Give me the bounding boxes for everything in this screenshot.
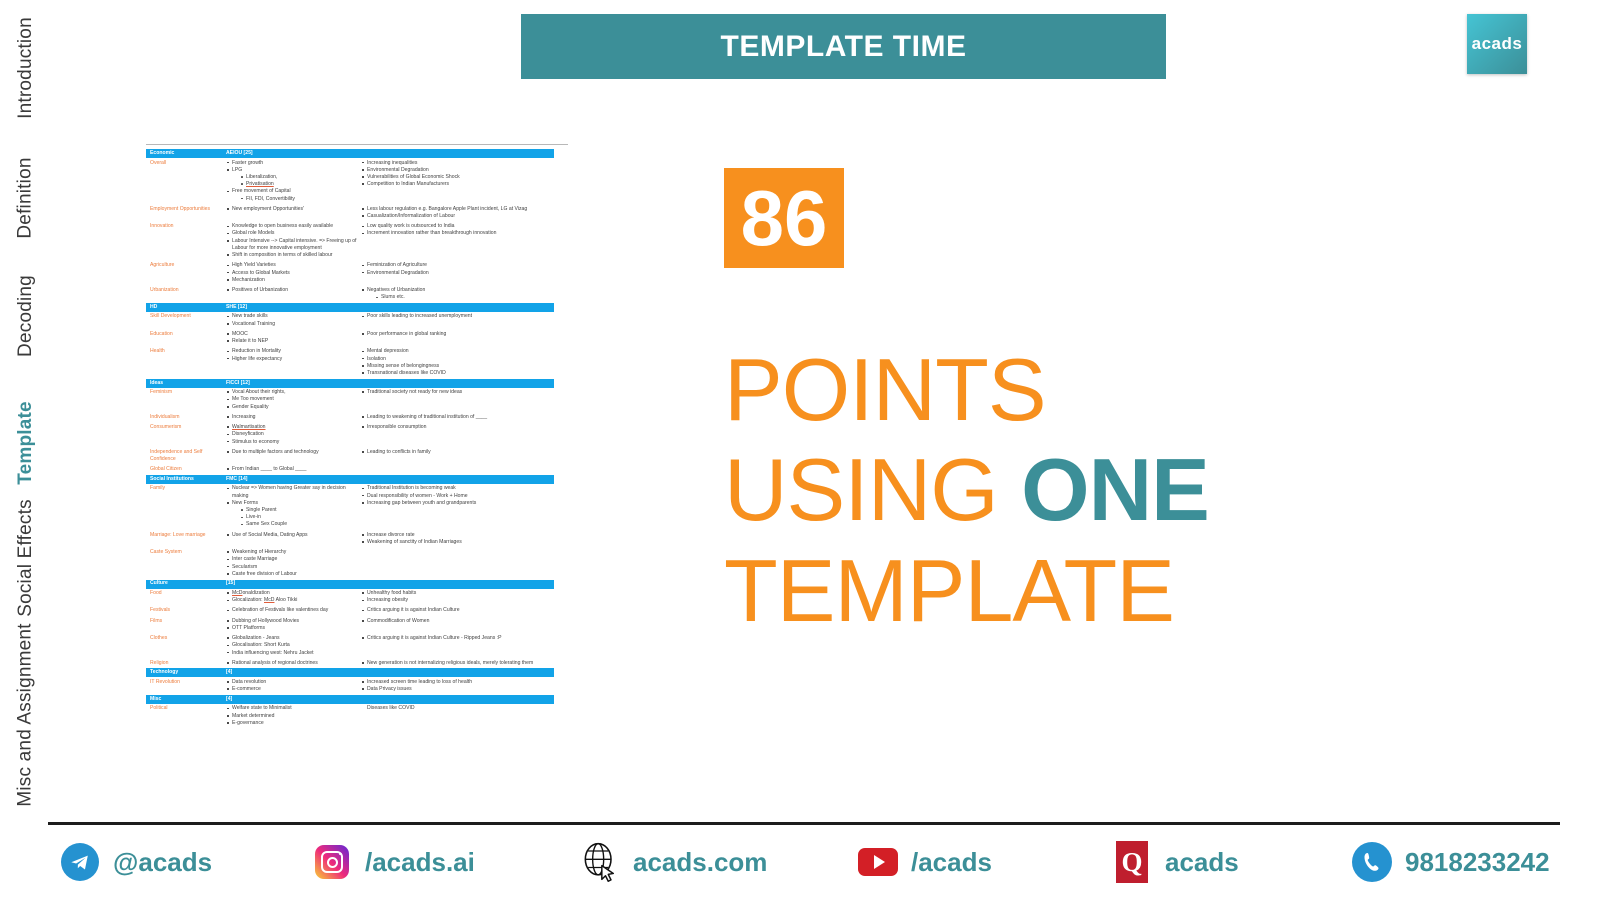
instagram-icon [310, 840, 354, 884]
table-bullet: Rational analysis of regional doctrines [226, 660, 361, 667]
page-title: TEMPLATE TIME [721, 30, 967, 64]
footer-link-phone[interactable]: 9818233242 [1350, 838, 1550, 886]
table-bullet: Environmental Degradation [361, 167, 554, 174]
row-negatives: Low quality work is outsourced to IndiaI… [361, 223, 554, 259]
table-row: ReligionRational analysis of regional do… [146, 658, 554, 668]
sidebar-item-label: Template [15, 401, 37, 485]
table-section-header: Social InstitutionsFMC [14] [146, 475, 554, 484]
row-label: Independence and Self Confidence [146, 449, 226, 463]
sidebar-item-label: Misc and Assignment [15, 623, 37, 806]
logo-text: acads [1472, 34, 1523, 54]
table-bullet: MOOC [226, 331, 361, 338]
row-negatives: Poor skills leading to increased unemplo… [361, 313, 554, 327]
table-bullet: E-governance [226, 720, 361, 727]
table-bullet: Isolation [361, 356, 554, 363]
table-bullet: Irresponsible consumption [361, 424, 554, 431]
table-bullet: Mechanization [226, 277, 361, 284]
table-bullet: Increase divorce rate [361, 532, 554, 539]
row-negatives: Feminization of AgricultureEnvironmental… [361, 262, 554, 284]
sidebar-item-decoding[interactable]: Decoding [0, 258, 52, 373]
table-bullet: Missing sense of belongingness [361, 363, 554, 370]
section-name: Social Institutions [146, 476, 226, 483]
table-row: Global CitizenFrom Indian ____ to Global… [146, 465, 554, 475]
row-positives: Data revolutionE-commerce [226, 679, 361, 693]
quora-icon: Q [1110, 840, 1154, 884]
table-bullet: Reduction in Mortality [226, 348, 361, 355]
row-negatives: Mental depressionIsolationMissing sense … [361, 348, 554, 377]
table-row: FestivalsCelebration of Festivals like v… [146, 606, 554, 616]
template-table: EconomicAEIOU [25]OverallFaster growthLP… [146, 149, 554, 729]
telegram-icon [58, 840, 102, 884]
table-bullet: Weakening of Hierarchy [226, 549, 361, 556]
table-bullet: Higher life expectancy [226, 356, 361, 363]
table-row: IT RevolutionData revolutionE-commerceIn… [146, 677, 554, 694]
table-bullet: Vocational Training [226, 321, 361, 328]
section-code: [4] [226, 696, 554, 703]
table-row: UrbanizationPositives of UrbanizationNeg… [146, 286, 554, 303]
footer-label: @acads [113, 847, 212, 878]
section-name: Misc [146, 696, 226, 703]
acads-logo: acads [1467, 14, 1527, 74]
row-positives: From Indian ____ to Global ____ [226, 466, 361, 473]
table-bullet: Globalization - Jeans [226, 635, 361, 642]
row-negatives: Critics arguing it is against Indian Cul… [361, 607, 554, 614]
row-label: Individualism [146, 414, 226, 421]
table-bullet: Market determined [226, 713, 361, 720]
row-negatives: New generation is not internalizing reli… [361, 660, 554, 667]
table-bullet: Increasing inequalities [361, 160, 554, 167]
row-negatives: Increased screen time leading to loss of… [361, 679, 554, 693]
row-positives: Due to multiple factors and technology [226, 449, 361, 463]
table-bullet: Knowledge to open business easily availa… [226, 223, 361, 230]
table-row: Caste SystemWeakening of HierarchyInter … [146, 548, 554, 580]
table-row: ConsumerismWalmartisationDisneyficationS… [146, 423, 554, 448]
table-bullet: Environmental Degradation [361, 270, 554, 277]
table-subbullet: Single Parent [240, 507, 361, 514]
table-bullet: Leading to conflicts in family [361, 449, 554, 456]
headline-block: POINTS USING ONE TEMPLATE [724, 340, 1344, 641]
table-bullet: Vocal About their rights, [226, 389, 361, 396]
row-positives: Reduction in MortalityHigher life expect… [226, 348, 361, 377]
table-section-header: Technology[4] [146, 668, 554, 677]
row-positives: Positives of Urbanization [226, 287, 361, 301]
section-code: [4] [226, 669, 554, 676]
table-bullet: Increasing obesity [361, 597, 554, 604]
point-count-value: 86 [741, 179, 828, 257]
row-label: Religion [146, 660, 226, 667]
row-label: Global Citizen [146, 466, 226, 473]
table-section-header: Misc[4] [146, 695, 554, 704]
row-positives: Use of Social Media, Dating Apps [226, 532, 361, 546]
table-bullet: Low quality work is outsourced to India [361, 223, 554, 230]
table-bullet: Critics arguing it is against Indian Cul… [361, 607, 554, 614]
table-row: IndividualismIncreasingLeading to weaken… [146, 412, 554, 422]
footer-link-telegram[interactable]: @acads [58, 838, 212, 886]
table-bullet: Glocalisation: Short Kurta [226, 642, 361, 649]
table-row: FeminismVocal About their rights,Me Too … [146, 388, 554, 413]
row-label: Health [146, 348, 226, 377]
headline-line-2-accent: ONE [1021, 440, 1209, 539]
section-code: FMC [14] [226, 476, 554, 483]
table-subbullet: Same Sex Couple [240, 521, 361, 528]
footer-label: acads.com [633, 847, 767, 878]
headline-line-1: POINTS [724, 340, 1344, 440]
row-label: Marriage: Love marriage [146, 532, 226, 546]
section-name: HD [146, 304, 226, 311]
footer-label: 9818233242 [1405, 847, 1550, 878]
table-bullet: Positives of Urbanization [226, 287, 361, 294]
table-bullet: Celebration of Festivals like valentines… [226, 607, 361, 614]
table-row: OverallFaster growthLPGLiberalization,Pr… [146, 158, 554, 204]
phone-icon [1350, 840, 1394, 884]
table-bullet: Walmartisation [226, 424, 361, 431]
row-negatives: Diseases like COVID [361, 705, 554, 727]
table-bullet: Traditional Institution is becoming weak [361, 485, 554, 492]
headline-line-2-prefix: USING [724, 440, 1021, 539]
table-row: Employment OpportunitiesNew employment O… [146, 204, 554, 221]
table-bullet: Increasing [226, 414, 361, 421]
table-section-header: HDSHE [12] [146, 303, 554, 312]
table-bullet: New FormsSingle ParentLive-inSame Sex Co… [226, 500, 361, 529]
sidebar-item-introduction[interactable]: Introduction [0, 10, 52, 125]
sidebar-item-social-effects[interactable]: Social Effects [0, 500, 52, 615]
table-bullet: Commodification of Women [361, 618, 554, 625]
table-section-header: Culture[15] [146, 580, 554, 589]
table-bullet: Less labour regulation e.g. Bangalore Ap… [361, 206, 554, 213]
table-bullet: Caste free division of Labour [226, 571, 361, 578]
point-count-badge: 86 [724, 168, 844, 268]
row-negatives: Irresponsible consumption [361, 424, 554, 446]
footer-link-youtube[interactable]: /acads [856, 838, 992, 886]
youtube-icon [856, 840, 900, 884]
table-row: Independence and Self ConfidenceDue to m… [146, 447, 554, 464]
row-label: IT Revolution [146, 679, 226, 693]
table-bullet: Poor performance in global ranking [361, 331, 554, 338]
row-positives: Celebration of Festivals like valentines… [226, 607, 361, 614]
table-bullet: Feminization of Agriculture [361, 262, 554, 269]
table-subbullet: Live-in [240, 514, 361, 521]
footer-label: /acads [911, 847, 992, 878]
table-bullet: Access to Global Markets [226, 270, 361, 277]
section-name: Economic [146, 150, 226, 157]
table-bullet: India influencing west: Nehru Jacket [226, 650, 361, 657]
table-section-header: IdeasFICCI [12] [146, 379, 554, 388]
table-bullet: Relate it to NEP [226, 338, 361, 345]
table-bullet: Shift in composition in terms of skilled… [226, 252, 361, 259]
table-bullet: Dual responsibility of women - Work + Ho… [361, 493, 554, 500]
sidebar-nav: Introduction Definition Decoding Templat… [0, 0, 52, 800]
table-bullet: High Yield Varieties [226, 262, 361, 269]
row-negatives: Traditional society not ready for new id… [361, 389, 554, 411]
row-positives: Increasing [226, 414, 361, 421]
table-bullet: Weakening of sanctity of Indian Marriage… [361, 539, 554, 546]
sidebar-item-label: Social Effects [15, 499, 37, 617]
row-label: Caste System [146, 549, 226, 578]
table-row: ClothesGlobalization - JeansGlocalisatio… [146, 634, 554, 659]
row-negatives: Negatives of UrbanizationSlums etc. [361, 287, 554, 301]
table-bullet: Negatives of UrbanizationSlums etc. [361, 287, 554, 301]
row-label: Innovation [146, 223, 226, 259]
row-positives: McDonaldizationGlocalization: McD Aloo T… [226, 590, 361, 604]
table-bullet: Gender Equality [226, 404, 361, 411]
table-bullet: Glocalization: McD Aloo Tikki [226, 597, 361, 604]
table-bullet: Nuclear => Women having Greater say in d… [226, 485, 361, 499]
row-label: Clothes [146, 635, 226, 657]
row-positives: Weakening of HierarchyInter caste Marria… [226, 549, 361, 578]
section-name: Technology [146, 669, 226, 676]
row-negatives: Leading to weakening of traditional inst… [361, 414, 554, 421]
table-bullet: New employment Opportunities' [226, 206, 361, 213]
table-bullet: McDonaldization [226, 590, 361, 597]
section-code: AEIOU [25] [226, 150, 554, 157]
table-bullet: Competition to Indian Manufacturers [361, 181, 554, 188]
headline-line-3: TEMPLATE [724, 541, 1344, 641]
table-bullet: Secularism [226, 564, 361, 571]
table-section-header: EconomicAEIOU [25] [146, 149, 554, 158]
table-bullet: Data Privacy issues [361, 686, 554, 693]
sidebar-item-template[interactable]: Template [0, 385, 52, 500]
table-bullet: New trade skills [226, 313, 361, 320]
table-bullet: Due to multiple factors and technology [226, 449, 361, 456]
row-label: Festivals [146, 607, 226, 614]
table-row: PoliticalWelfare state to MinimalistMark… [146, 704, 554, 729]
table-row: Marriage: Love marriageUse of Social Med… [146, 530, 554, 547]
table-plain-text: Diseases like COVID [361, 705, 554, 712]
row-negatives: Critics arguing it is against Indian Cul… [361, 635, 554, 657]
sidebar-item-label: Decoding [15, 275, 37, 357]
row-positives: Faster growthLPGLiberalization,Privatisa… [226, 160, 361, 203]
row-label: Urbanization [146, 287, 226, 301]
row-label: Family [146, 485, 226, 528]
row-positives: Knowledge to open business easily availa… [226, 223, 361, 259]
table-row: EducationMOOCRelate it to NEPPoor perfor… [146, 329, 554, 346]
table-row: FamilyNuclear => Women having Greater sa… [146, 484, 554, 530]
row-negatives: Poor performance in global ranking [361, 331, 554, 345]
row-negatives: Leading to conflicts in family [361, 449, 554, 463]
footer-bar: @acads /acads.ai acads.com /acads Q [0, 828, 1608, 897]
table-subbullet: Privatisation [240, 181, 361, 188]
row-negatives: Traditional Institution is becoming weak… [361, 485, 554, 528]
row-negatives: Increase divorce rateWeakening of sancti… [361, 532, 554, 546]
table-bullet: Faster growth [226, 160, 361, 167]
table-bullet: From Indian ____ to Global ____ [226, 466, 361, 473]
table-subbullet: Slums etc. [375, 294, 554, 301]
table-bullet: LPGLiberalization,Privatisation [226, 167, 361, 189]
row-label: Food [146, 590, 226, 604]
table-bullet: Use of Social Media, Dating Apps [226, 532, 361, 539]
table-bullet: Data revolution [226, 679, 361, 686]
footer-link-instagram[interactable]: /acads.ai [310, 838, 475, 886]
footer-link-website[interactable]: acads.com [578, 838, 767, 886]
table-bullet: Critics arguing it is against Indian Cul… [361, 635, 554, 642]
table-bullet: Welfare state to Minimalist [226, 705, 361, 712]
table-row: FoodMcDonaldizationGlocalization: McD Al… [146, 589, 554, 606]
table-subbullet: FII, FDI, Convertibility [240, 196, 361, 203]
table-bullet: Transnational diseases like COVID [361, 370, 554, 377]
table-row: InnovationKnowledge to open business eas… [146, 222, 554, 261]
row-label: Skill Development [146, 313, 226, 327]
table-bullet: Unhealthy food habits [361, 590, 554, 597]
footer-link-quora[interactable]: Q acads [1110, 838, 1239, 886]
section-name: Ideas [146, 380, 226, 387]
table-row: Skill DevelopmentNew trade skillsVocatio… [146, 312, 554, 329]
row-negatives: Commodification of Women [361, 618, 554, 632]
table-row: AgricultureHigh Yield VarietiesAccess to… [146, 261, 554, 286]
row-label: Feminism [146, 389, 226, 411]
table-bullet: Casualization/Informalization of Labour [361, 213, 554, 220]
table-bullet: Increasing gap between youth and grandpa… [361, 500, 554, 507]
table-row: FilmsDubbing of Hollywood MoviesOTT Plat… [146, 616, 554, 633]
row-positives: MOOCRelate it to NEP [226, 331, 361, 345]
row-label: Overall [146, 160, 226, 203]
row-negatives [361, 549, 554, 578]
table-bullet: Global role Models [226, 230, 361, 237]
table-bullet: E-commerce [226, 686, 361, 693]
row-negatives: Increasing inequalitiesEnvironmental Deg… [361, 160, 554, 203]
table-bullet: Inter caste Marriage [226, 556, 361, 563]
row-label: Consumerism [146, 424, 226, 446]
row-positives: New employment Opportunities' [226, 206, 361, 220]
row-positives: High Yield VarietiesAccess to Global Mar… [226, 262, 361, 284]
table-bullet: Traditional society not ready for new id… [361, 389, 554, 396]
section-code: FICCI [12] [226, 380, 554, 387]
table-row: HealthReduction in MortalityHigher life … [146, 347, 554, 379]
globe-icon [578, 840, 622, 884]
table-bullet: Mental depression [361, 348, 554, 355]
table-bullet: Me Too movement [226, 396, 361, 403]
row-label: Political [146, 705, 226, 727]
row-label: Education [146, 331, 226, 345]
row-negatives [361, 466, 554, 473]
table-bullet: OTT Platforms [226, 625, 361, 632]
table-bullet: Disneyfication [226, 431, 361, 438]
table-bullet: Free movement of CapitalFII, FDI, Conver… [226, 188, 361, 202]
section-name: Culture [146, 580, 226, 587]
row-positives: Nuclear => Women having Greater say in d… [226, 485, 361, 528]
section-code: [15] [226, 580, 554, 587]
section-code: SHE [12] [226, 304, 554, 311]
row-positives: New trade skillsVocational Training [226, 313, 361, 327]
row-negatives: Less labour regulation e.g. Bangalore Ap… [361, 206, 554, 220]
row-label: Agriculture [146, 262, 226, 284]
header-banner: TEMPLATE TIME [521, 14, 1166, 79]
table-bullet: Stimulus to economy [226, 439, 361, 446]
footer-label: /acads.ai [365, 847, 475, 878]
footer-label: acads [1165, 847, 1239, 878]
row-label: Films [146, 618, 226, 632]
table-bullet: Vulnerabilities of Global Economic Shock [361, 174, 554, 181]
table-bullet: Increased screen time leading to loss of… [361, 679, 554, 686]
table-bullet: Leading to weakening of traditional inst… [361, 414, 554, 421]
table-bullet: Poor skills leading to increased unemplo… [361, 313, 554, 320]
row-positives: Globalization - JeansGlocalisation: Shor… [226, 635, 361, 657]
row-negatives: Unhealthy food habitsIncreasing obesity [361, 590, 554, 604]
sidebar-item-misc-and-assignment[interactable]: Misc and Assignment [0, 635, 52, 795]
row-positives: Vocal About their rights,Me Too movement… [226, 389, 361, 411]
table-bullet: New generation is not internalizing reli… [361, 660, 554, 667]
table-subbullet: Liberalization, [240, 174, 361, 181]
sidebar-item-definition[interactable]: Definition [0, 140, 52, 255]
sidebar-item-label: Introduction [15, 17, 37, 119]
row-positives: Dubbing of Hollywood MoviesOTT Platforms [226, 618, 361, 632]
table-bullet: Labour Intensive --> Capital intensive. … [226, 238, 361, 252]
table-top-rule [146, 144, 568, 145]
row-label: Employment Opportunities [146, 206, 226, 220]
row-positives: Welfare state to MinimalistMarket determ… [226, 705, 361, 727]
table-bullet: Increment innovation rather than breakth… [361, 230, 554, 237]
sidebar-item-label: Definition [15, 157, 37, 238]
row-positives: WalmartisationDisneyficationStimulus to … [226, 424, 361, 446]
footer-divider [48, 822, 1560, 825]
headline-line-2: USING ONE [724, 440, 1344, 540]
table-bullet: Dubbing of Hollywood Movies [226, 618, 361, 625]
row-positives: Rational analysis of regional doctrines [226, 660, 361, 667]
